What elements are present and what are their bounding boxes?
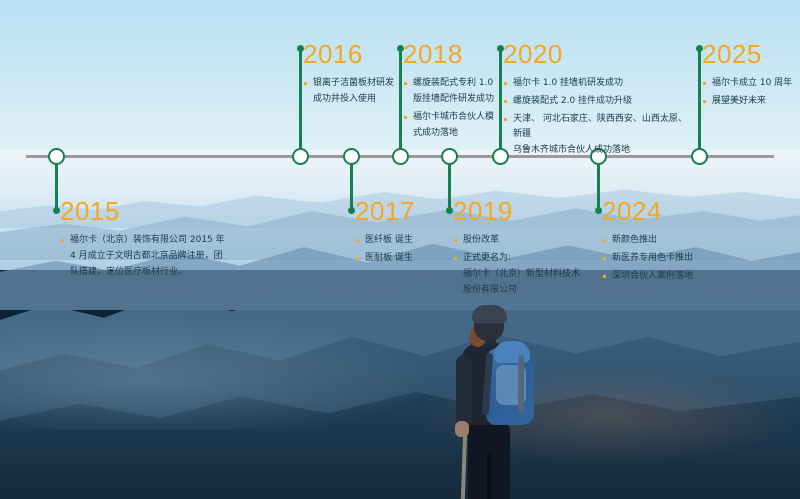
bullet-item: 股份改革 bbox=[453, 233, 583, 248]
bullet-item: 队搭建，定位医疗板材行业。 bbox=[60, 265, 240, 280]
hiker-silhouette bbox=[440, 303, 560, 499]
timeline-entry-2024[interactable]: 2024 新颜色推出 新医养专用色卡推出 深圳合伙人案例落地 bbox=[602, 198, 732, 287]
bullet-item: 成功并投入使用 bbox=[303, 92, 398, 107]
stem-2024 bbox=[597, 164, 600, 210]
sunlit-slope-glow bbox=[0, 360, 800, 499]
bullet-item: 新医养专用色卡推出 bbox=[602, 251, 732, 266]
bullet-list-2024: 新颜色推出 新医养专用色卡推出 深圳合伙人案例落地 bbox=[602, 233, 732, 284]
bullet-item: 正式更名为: bbox=[453, 251, 583, 266]
year-label-2018: 2018 bbox=[403, 41, 503, 67]
year-label-2015: 2015 bbox=[60, 198, 240, 224]
bullet-item: 展望美好未来 bbox=[702, 94, 797, 109]
timeline-node-2018[interactable] bbox=[392, 148, 409, 165]
trekking-pole bbox=[461, 431, 467, 499]
stem-2016 bbox=[299, 48, 302, 150]
bullet-item: 股份有限公司 bbox=[453, 283, 583, 298]
year-label-2017: 2017 bbox=[355, 198, 450, 224]
timeline-entry-2018[interactable]: 2018 螺旋装配式专利 1.0 版挂墙配件研发成功 福尔卡城市合伙人模 式成功… bbox=[403, 41, 503, 144]
year-label-2020: 2020 bbox=[503, 41, 693, 67]
timeline-entry-2015[interactable]: 2015 福尔卡（北京）装饰有限公司 2015 年 4 月成立于文明古都北京品牌… bbox=[60, 198, 240, 283]
year-label-2016: 2016 bbox=[303, 41, 398, 67]
bullet-item: 螺旋装配式 2.0 挂件成功升级 bbox=[503, 94, 693, 109]
bullet-item: 福尔卡（北京）新型材料技术 bbox=[453, 267, 583, 282]
hiker-arm bbox=[456, 355, 472, 429]
year-label-2024: 2024 bbox=[602, 198, 732, 224]
stem-cap-2024 bbox=[595, 207, 602, 214]
timeline-node-2015[interactable] bbox=[48, 148, 65, 165]
bullet-list-2016: 银离子洁菌板材研发 成功并投入使用 bbox=[303, 76, 398, 107]
stem-2015 bbox=[55, 164, 58, 210]
timeline-entry-2016[interactable]: 2016 银离子洁菌板材研发 成功并投入使用 bbox=[303, 41, 398, 110]
bullet-item: 乌鲁木齐城市合伙人成功落地 bbox=[503, 143, 693, 158]
stem-cap-2017 bbox=[348, 207, 355, 214]
stem-2017 bbox=[350, 164, 353, 210]
bullet-item: 福尔卡城市合伙人模 bbox=[403, 110, 503, 125]
year-label-2019: 2019 bbox=[453, 198, 583, 224]
bullet-item: 新颜色推出 bbox=[602, 233, 732, 248]
bullet-list-2020: 福尔卡 1.0 挂墙机研发成功 螺旋装配式 2.0 挂件成功升级 天津、 河北石… bbox=[503, 76, 693, 158]
bullet-list-2015: 福尔卡（北京）装饰有限公司 2015 年 4 月成立于文明古都北京品牌注册，团 … bbox=[60, 233, 240, 280]
bullet-item: 银离子洁菌板材研发 bbox=[303, 76, 398, 91]
bullet-item: 医纤板 诞生 bbox=[355, 233, 450, 248]
bullet-item: 式成功落地 bbox=[403, 126, 503, 141]
bullet-item: 福尔卡 1.0 挂墙机研发成功 bbox=[503, 76, 693, 91]
timeline-node-2019[interactable] bbox=[441, 148, 458, 165]
bullet-item: 深圳合伙人案例落地 bbox=[602, 269, 732, 284]
bullet-item: 天津、 河北石家庄、陕西西安、山西太原、新疆 bbox=[503, 112, 693, 142]
bullet-item: 4 月成立于文明古都北京品牌注册，团 bbox=[60, 249, 240, 264]
timeline-infographic: 2015 福尔卡（北京）装饰有限公司 2015 年 4 月成立于文明古都北京品牌… bbox=[0, 0, 800, 499]
timeline-node-2017[interactable] bbox=[343, 148, 360, 165]
bullet-list-2017: 医纤板 诞生 医耐板 诞生 bbox=[355, 233, 450, 266]
stem-2025 bbox=[698, 48, 701, 150]
bullet-list-2018: 螺旋装配式专利 1.0 版挂墙配件研发成功 福尔卡城市合伙人模 式成功落地 bbox=[403, 76, 503, 141]
bullet-item: 螺旋装配式专利 1.0 bbox=[403, 76, 503, 91]
backpack-strap-right bbox=[518, 355, 524, 413]
bullet-item: 医耐板 诞生 bbox=[355, 251, 450, 266]
hiker-leg-split bbox=[487, 453, 491, 499]
timeline-entry-2017[interactable]: 2017 医纤板 诞生 医耐板 诞生 bbox=[355, 198, 450, 269]
hiker-hand bbox=[455, 421, 469, 437]
hiker-hat bbox=[472, 305, 507, 323]
year-label-2025: 2025 bbox=[702, 41, 797, 67]
bullet-list-2025: 福尔卡成立 10 周年 展望美好未来 bbox=[702, 76, 797, 109]
stem-2018 bbox=[399, 48, 402, 150]
bullet-item: 福尔卡成立 10 周年 bbox=[702, 76, 797, 91]
timeline-node-2025[interactable] bbox=[691, 148, 708, 165]
timeline-entry-2019[interactable]: 2019 股份改革 正式更名为: 福尔卡（北京）新型材料技术 股份有限公司 bbox=[453, 198, 583, 301]
bullet-list-2019: 股份改革 正式更名为: 福尔卡（北京）新型材料技术 股份有限公司 bbox=[453, 233, 583, 298]
backpack-lid bbox=[494, 341, 530, 363]
bullet-item: 版挂墙配件研发成功 bbox=[403, 92, 503, 107]
timeline-node-2016[interactable] bbox=[292, 148, 309, 165]
timeline-entry-2020[interactable]: 2020 福尔卡 1.0 挂墙机研发成功 螺旋装配式 2.0 挂件成功升级 天津… bbox=[503, 41, 693, 161]
timeline-entry-2025[interactable]: 2025 福尔卡成立 10 周年 展望美好未来 bbox=[702, 41, 797, 112]
stem-cap-2015 bbox=[53, 207, 60, 214]
bullet-item: 福尔卡（北京）装饰有限公司 2015 年 bbox=[60, 233, 240, 248]
